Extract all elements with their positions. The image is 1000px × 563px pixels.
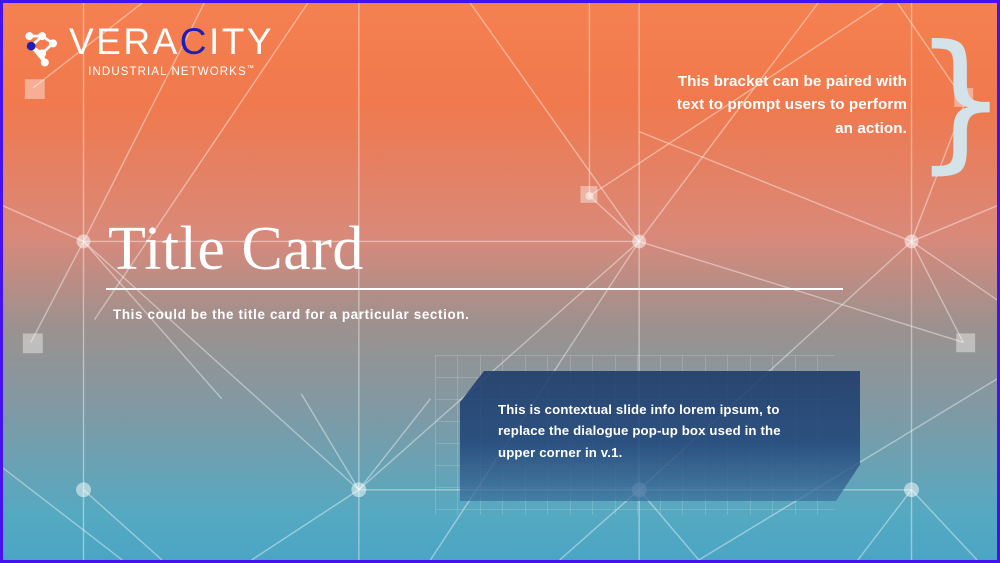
page-subtitle: This could be the title card for a parti… (113, 307, 848, 322)
contextual-info-line-2: replace the dialogue pop-up box used in … (498, 420, 798, 441)
trademark-symbol: ™ (247, 65, 255, 72)
brand-wordmark: VERACITY (69, 23, 274, 60)
brand-logo: VERACITY INDUSTRIAL NETWORKS™ (23, 23, 274, 78)
bracket-callout-text: This bracket can be paired with text to … (675, 70, 907, 141)
contextual-info-line-3: upper corner in v.1. (498, 442, 798, 463)
bracket-callout-line-1: This bracket can be paired (678, 73, 872, 90)
brand-tagline: INDUSTRIAL NETWORKS™ (69, 65, 274, 78)
brand-logo-text: VERACITY INDUSTRIAL NETWORKS™ (69, 23, 274, 78)
brand-wordmark-part2: ITY (209, 21, 274, 62)
contextual-info-line-1: This is contextual slide info lorem ipsu… (498, 399, 798, 420)
brand-tagline-text: INDUSTRIAL NETWORKS (88, 66, 246, 78)
brand-wordmark-part1: VERA (69, 21, 180, 62)
network-nodes-icon (23, 27, 63, 67)
bracket-callout-line-3: to perform an action. (830, 96, 907, 137)
title-card: Title Card This could be the title card … (108, 217, 848, 322)
slide-canvas: VERACITY INDUSTRIAL NETWORKS™ This brack… (0, 0, 1000, 563)
page-title: Title Card (108, 217, 848, 282)
bracket-callout: This bracket can be paired with text to … (675, 55, 965, 155)
contextual-info-text: This is contextual slide info lorem ipsu… (498, 399, 798, 463)
title-divider (106, 288, 843, 290)
brand-wordmark-accent-c: C (180, 21, 209, 62)
curly-brace-icon: } (913, 47, 965, 155)
